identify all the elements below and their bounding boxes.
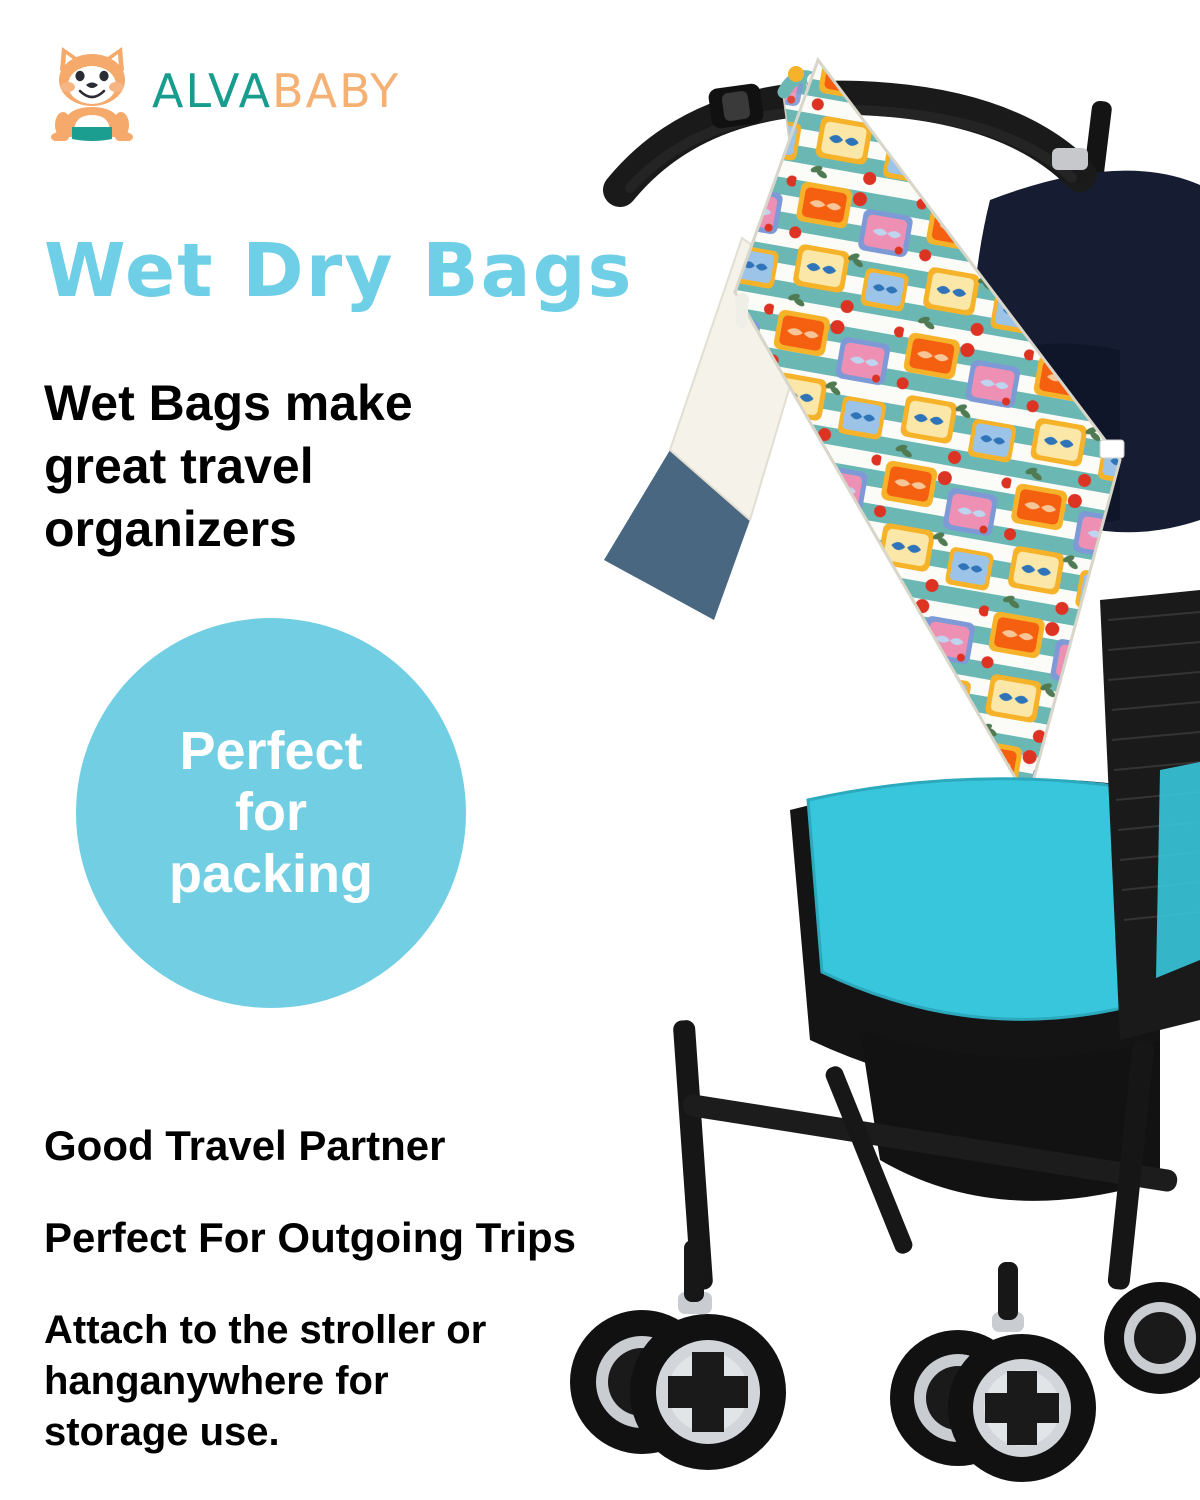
- wheel-rear-right: [1104, 1282, 1200, 1394]
- brand-logo: ALVA BABY: [46, 36, 386, 146]
- product-photo: [560, 0, 1200, 1500]
- wheel-front-left: [570, 1240, 786, 1470]
- feature-bullet-3: Attach to the stroller or hanganywhere f…: [44, 1305, 544, 1459]
- wheel-front-right: [890, 1262, 1096, 1482]
- product-marketing-image: ALVA BABY Wet Dry Bags Wet Bags make gre…: [0, 0, 1200, 1500]
- stroller-wheels: [570, 1240, 1200, 1482]
- badge-line-3: packing: [169, 844, 373, 906]
- subhead-text: Wet Bags make great travel organizers: [44, 372, 514, 561]
- page-title: Wet Dry Bags: [44, 228, 634, 314]
- brand-wordmark: ALVA BABY: [152, 68, 400, 114]
- brand-name-baby: BABY: [272, 68, 400, 114]
- badge-line-1: Perfect: [179, 721, 362, 783]
- feature-bullet-2: Perfect For Outgoing Trips: [44, 1214, 576, 1262]
- brand-name-alva: ALVA: [152, 68, 272, 114]
- perfect-for-packing-badge: Perfect for packing: [76, 618, 466, 1008]
- fox-mascot-icon: [46, 41, 138, 141]
- feature-bullet-1: Good Travel Partner: [44, 1122, 445, 1170]
- badge-line-2: for: [235, 782, 307, 844]
